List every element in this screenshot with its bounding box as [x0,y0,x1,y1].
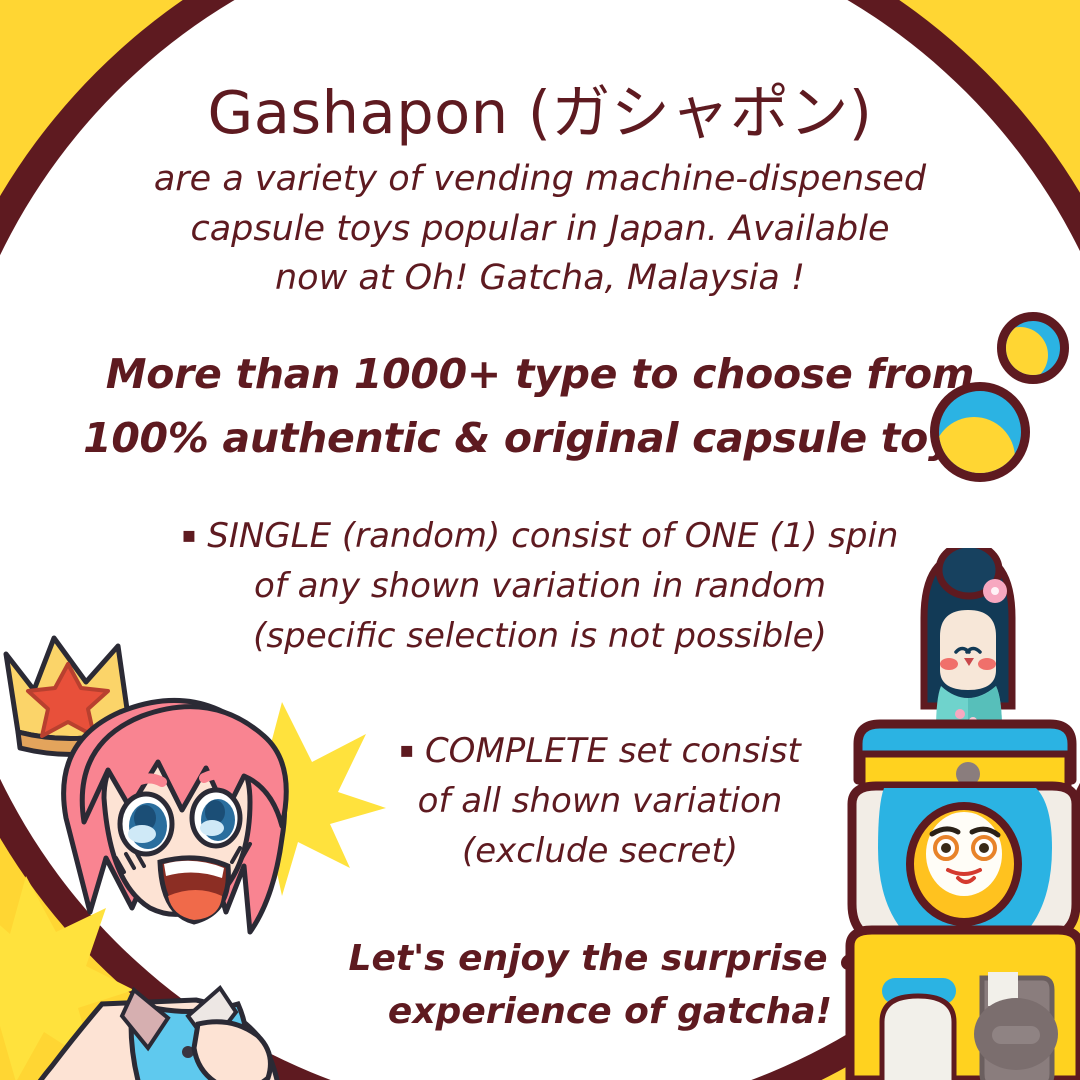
bullet-marker-complete: ▪ [399,738,414,763]
complete-text-1: COMPLETE set consist [425,731,801,771]
intro-line-1: are a variety of vending machine-dispens… [0,155,1080,205]
headline-line-1: More than 1000+ type to choose from [0,343,1080,407]
headline-line-2: 100% authentic & original capsule toys! [0,407,1080,471]
capsule-large-icon [930,382,1030,482]
daruma-toy-icon [910,806,1018,922]
machine-svg [836,548,1080,1080]
intro-paragraph: are a variety of vending machine-dispens… [0,155,1080,304]
page-title: Gashapon (ガシャポン) [0,82,1080,144]
poster-canvas: Gashapon (ガシャポン) are a variety of vendin… [0,0,1080,1080]
character-svg [0,612,386,1080]
character-illustration [0,612,386,1080]
headline-block: More than 1000+ type to choose from 100%… [0,343,1080,470]
intro-line-3: now at Oh! Gatcha, Malaysia ! [0,254,1080,304]
intro-line-2: capsule toys popular in Japan. Available [0,205,1080,255]
capsule-large-inner [933,417,1015,482]
capsule-small-icon [997,312,1069,384]
bullet-marker-single: ▪ [182,523,197,548]
single-text-1: SINGLE (random) consist of ONE (1) spin [207,516,898,556]
kokeshi-doll-icon [924,548,1012,730]
gachapon-machine-illustration [836,548,1080,1080]
